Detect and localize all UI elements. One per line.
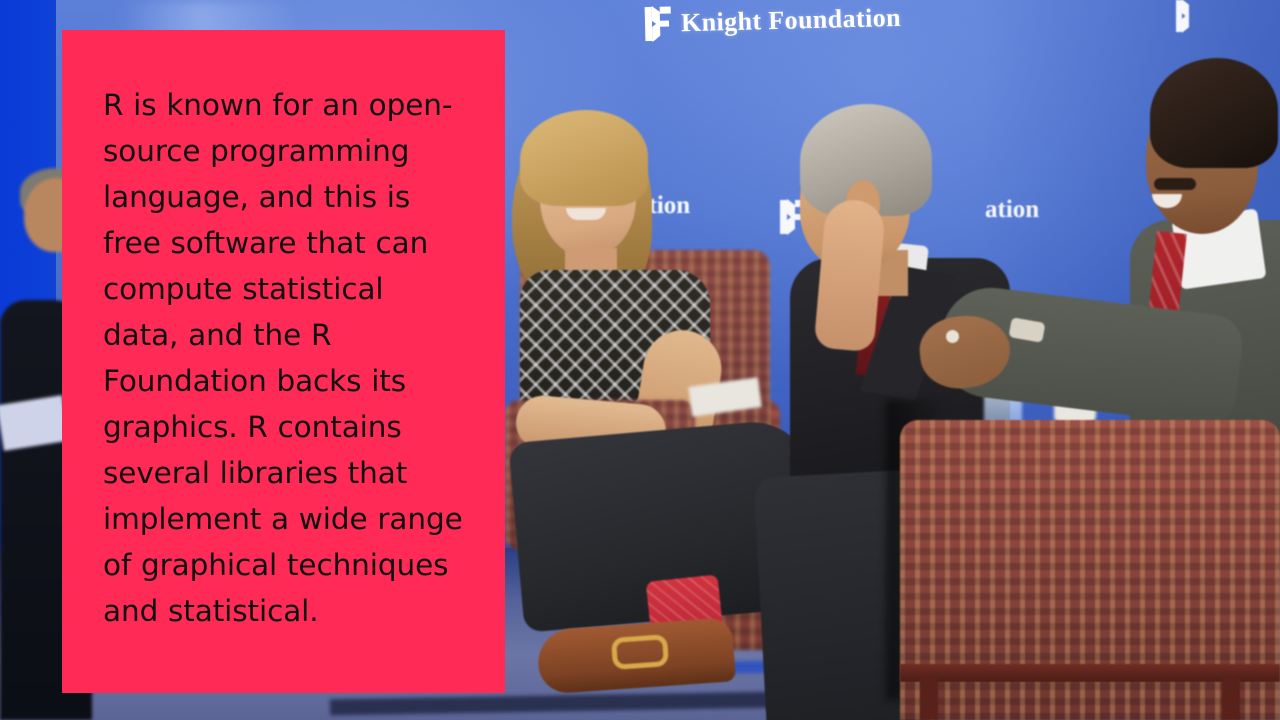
panelist-man3-hair [1150, 58, 1278, 168]
knight-foundation-wordmark: Knight Foundation [681, 3, 902, 38]
backdrop-label-partial-2: ation [985, 196, 1039, 224]
knight-foundation-logo-partial-3: ation [985, 196, 1039, 224]
panelist-woman-smile [566, 208, 606, 220]
body-paragraph: R is known for an open-source programmin… [103, 82, 465, 634]
panelist-man3-ring [946, 330, 959, 343]
kf-monogram-icon [645, 6, 672, 41]
armchair-right-leg [920, 676, 938, 720]
panelist-man3-mustache [1154, 178, 1196, 190]
shoe-buckle [611, 634, 669, 670]
slide-canvas: Knight Foundation ation ation [0, 0, 1280, 720]
panelist-woman-hair-front [520, 110, 648, 206]
kf-monogram-icon-3 [1176, 0, 1196, 32]
knight-foundation-logo-partial-4 [1176, 0, 1196, 32]
knight-foundation-logo-top: Knight Foundation [645, 1, 902, 41]
armchair-right-leg [1222, 676, 1240, 720]
text-overlay-card: R is known for an open-source programmin… [62, 30, 505, 693]
